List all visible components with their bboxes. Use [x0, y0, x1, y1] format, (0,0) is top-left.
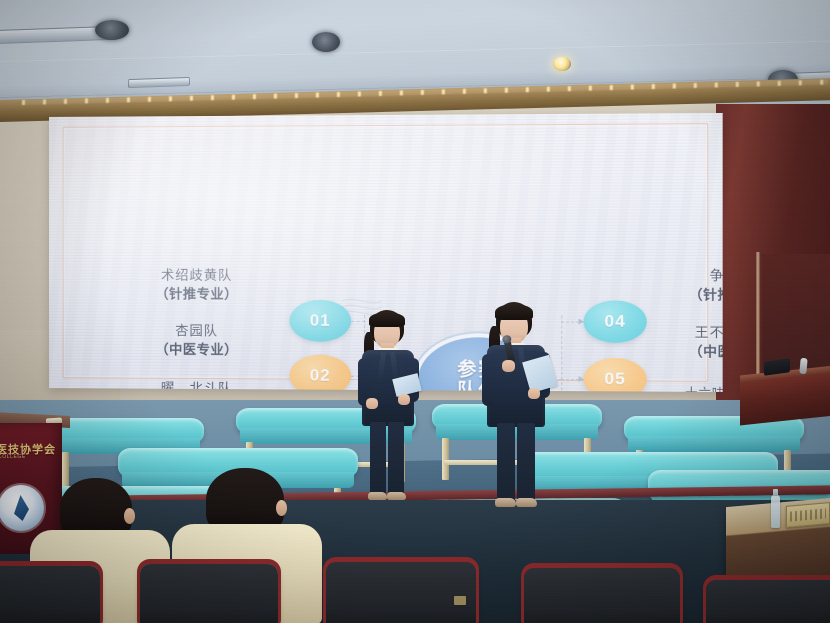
- shoe: [495, 498, 516, 507]
- placard-text: [790, 508, 826, 521]
- hair-fringe: [369, 312, 405, 327]
- ceiling-downlight-icon: [553, 57, 571, 71]
- water-bottle-icon: [771, 495, 780, 528]
- arm-left: [482, 354, 498, 406]
- microphone-icon: [799, 358, 807, 375]
- right-wall-panel: [716, 104, 830, 404]
- presenter-right: [478, 302, 556, 514]
- team-node-02: 02: [289, 355, 351, 392]
- auditorium-seat: [0, 566, 100, 623]
- lecture-hall-photo: 参赛 队伍 01 02 03 04 05 06 术绍歧黄队 （针推专业） 杏园队…: [0, 0, 830, 623]
- name-placard: [786, 502, 830, 528]
- ceiling-downlight-icon: [95, 20, 129, 40]
- hand-holding-mic: [502, 360, 515, 372]
- team-label-04: 争先队 （针推专业）: [655, 267, 723, 306]
- team-label-02: 杏园队 （中医专业）: [123, 322, 271, 361]
- auditorium-seat: [706, 580, 830, 623]
- team-major: （中医专业）: [123, 341, 271, 361]
- shoe: [387, 492, 406, 500]
- ear: [276, 500, 287, 516]
- team-name: 术绍歧黄队: [123, 267, 271, 286]
- team-name: 王不留行队: [651, 324, 723, 344]
- team-label-06: 十六味流气饮队 （中医专业）: [645, 384, 723, 392]
- hand-right: [528, 388, 540, 399]
- shoe: [516, 498, 537, 507]
- auditorium-seat: [140, 564, 278, 623]
- team-major: （针推专业）: [123, 286, 271, 305]
- auditorium-seat: [326, 562, 476, 623]
- team-major: （针推专业）: [655, 287, 723, 307]
- hand-left: [366, 398, 378, 409]
- presenter-left: [352, 310, 424, 510]
- hand-right: [398, 394, 410, 405]
- podium-english-text: COLLEGE: [0, 454, 60, 460]
- team-node-01: 01: [289, 300, 351, 342]
- team-label-01: 术绍歧黄队 （针推专业）: [123, 267, 271, 305]
- team-name: 争先队: [655, 267, 723, 287]
- ceiling-vent-icon: [128, 77, 190, 88]
- seat-number-plate: [454, 596, 466, 605]
- team-major: （中医专业）: [651, 343, 723, 363]
- trouser-leg: [388, 422, 404, 494]
- connector-bus-right: [561, 315, 562, 392]
- team-node-05: 05: [584, 358, 647, 392]
- hair-fringe: [495, 304, 533, 320]
- trouser-leg: [517, 423, 535, 501]
- team-name: 十六味流气饮队: [645, 384, 723, 392]
- shoe: [368, 492, 387, 500]
- team-name: 杏园队: [123, 322, 271, 342]
- ear: [124, 508, 135, 524]
- auditorium-seat: [524, 568, 680, 623]
- trouser-leg: [497, 423, 515, 501]
- team-node-04: 04: [584, 300, 647, 343]
- trouser-leg: [370, 422, 386, 494]
- team-label-05: 王不留行队 （中医专业）: [651, 324, 723, 364]
- ceiling-downlight-icon: [312, 32, 340, 52]
